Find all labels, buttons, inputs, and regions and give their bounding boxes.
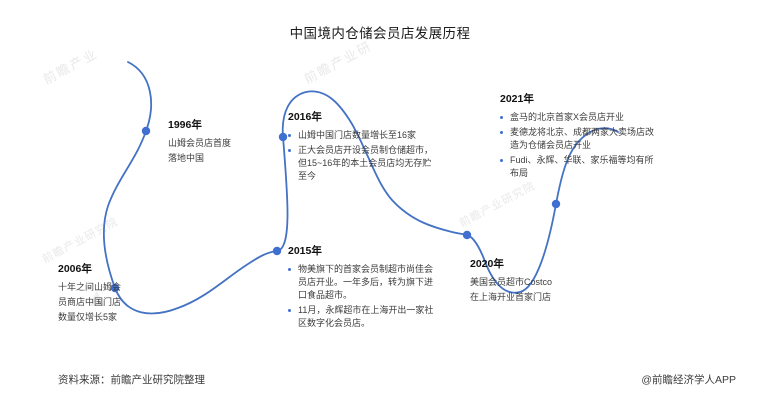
source-note: 资料来源：前瞻产业研究院整理 [58, 372, 205, 387]
node-1996 [142, 127, 150, 135]
timeline-curve [0, 0, 760, 411]
milestone-2021: 2021年 盒马的北京首家X会员店开业 麦德龙将北京、成都两家大卖场店改造为仓储… [500, 92, 658, 182]
brand-watermark: @前瞻经济学人APP [641, 372, 736, 387]
milestone-2015: 2015年 物美旗下的首家会员制超市尚佳会员店开业。一年多后，转为旗下进口食品超… [288, 244, 434, 332]
watermark: 前瞻产业研究院 [39, 213, 121, 267]
milestone-year: 2006年 [58, 262, 176, 277]
milestone-point: 山姆中国门店数量増长至16家 [288, 129, 438, 142]
milestone-year: 1996年 [168, 118, 278, 133]
milestone-point: 盒马的北京首家X会员店开业 [500, 111, 658, 124]
milestone-year: 2015年 [288, 244, 434, 259]
milestone-point: 数量仅增长5家 [58, 311, 176, 324]
milestone-point: 物美旗下的首家会员制超市尚佳会员店开业。一年多后，转为旗下进口食品超市。 [288, 263, 434, 302]
node-2021 [552, 200, 560, 208]
page-title: 中国境内仓储会员店发展历程 [0, 22, 760, 42]
watermark: 前瞻产业研究院 [456, 177, 538, 231]
node-2020 [463, 231, 471, 239]
milestone-point: 落地中国 [168, 152, 278, 165]
milestone-point: 山姆会员店首度 [168, 137, 278, 150]
milestone-year: 2016年 [288, 110, 438, 125]
milestone-point: Fudi、永辉、华联、家乐福等均有所布局 [500, 154, 658, 180]
watermark: 前瞻产业研 [300, 36, 375, 88]
milestone-2006: 2006年 十年之间山姆会 员商店中国门店 数量仅增长5家 [58, 262, 176, 326]
milestone-point: 十年之间山姆会 [58, 281, 176, 294]
milestone-point: 11月，永辉超市在上海开出一家社区数字化会员店。 [288, 304, 434, 330]
milestone-point: 员商店中国门店 [58, 296, 176, 309]
milestone-year: 2021年 [500, 92, 658, 107]
node-2015 [273, 247, 281, 255]
chart-canvas: 中国境内仓储会员店发展历程 前瞻产业 前瞻产业研 前瞻产业研究院 前瞻产业研究院… [0, 0, 760, 411]
milestone-point: 麦德龙将北京、成都两家大卖场店改造为仓储会员店开业 [500, 126, 658, 152]
milestone-point: 在上海开业首家门店 [470, 291, 610, 304]
milestone-point: 正大会员店开设会员制仓储超市，但15~16年的本土会员店均无存贮至今 [288, 144, 438, 183]
watermark: 前瞻产业 [39, 43, 101, 88]
milestone-2016: 2016年 山姆中国门店数量増长至16家 正大会员店开设会员制仓储超市，但15~… [288, 110, 438, 185]
node-2016 [279, 133, 287, 141]
milestone-year: 2020年 [470, 257, 610, 272]
milestone-1996: 1996年 山姆会员店首度 落地中国 [168, 118, 278, 167]
milestone-2020: 2020年 美国会员超市Costco 在上海开业首家门店 [470, 257, 610, 306]
milestone-point: 美国会员超市Costco [470, 276, 610, 289]
